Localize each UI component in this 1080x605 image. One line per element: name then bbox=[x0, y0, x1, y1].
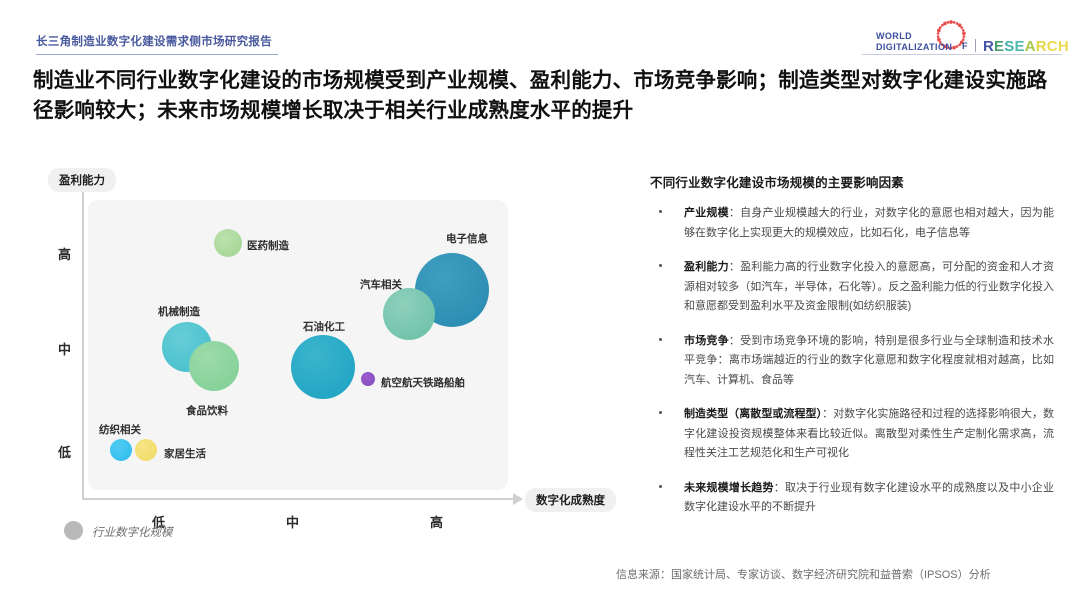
bullet-dot-icon bbox=[659, 485, 662, 488]
slide-root: 长三角制造业数字化建设需求侧市场研究报告 WORLD DIGITALIZATIO… bbox=[0, 0, 1080, 605]
factor-item-3: 市场竞争：受到市场竞争环境的影响，特别是很多行业与全球制造和技术水平竞争：离市场… bbox=[650, 332, 1054, 391]
size-legend-swatch bbox=[64, 521, 83, 540]
logo-research-wordmark: RESEARCH bbox=[983, 38, 1069, 55]
factor-text-3: 市场竞争：受到市场竞争环境的影响，特别是很多行业与全球制造和技术水平竞争：离市场… bbox=[684, 332, 1054, 391]
factor-text-1: 产业规模：自身产业规模越大的行业，对数字化的意愿也相对越大，因为能够在数字化上实… bbox=[684, 204, 1054, 243]
x-axis-arrow bbox=[513, 493, 523, 505]
bubble-label-5: 石油化工 bbox=[303, 319, 345, 334]
y-tick-low: 低 bbox=[58, 442, 71, 461]
y-tick-mid: 中 bbox=[58, 339, 71, 358]
factor-item-5: 未来规模增长趋势：取决于行业现有数字化建设水平的成熟度以及中小企业数字化建设水平… bbox=[650, 479, 1054, 518]
bubble-label-1: 医药制造 bbox=[247, 238, 289, 253]
x-axis-line bbox=[82, 498, 514, 500]
logo-wordmark: WORLD DIGITALIZATION bbox=[876, 31, 952, 52]
factor-item-2: 盈利能力：盈利能力高的行业数字化投入的意愿高，可分配的资金和人才资源相对较多（如… bbox=[650, 258, 1054, 317]
bullet-dot-icon bbox=[659, 210, 662, 213]
factor-text-2: 盈利能力：盈利能力高的行业数字化投入的意愿高，可分配的资金和人才资源相对较多（如… bbox=[684, 258, 1054, 317]
bubble-label-8: 纺织相关 bbox=[99, 422, 141, 437]
bubble-chart: 盈利能力 数字化成熟度 高 中 低 低 中 高 医药制造电子信息汽车相关机械制造… bbox=[36, 170, 636, 570]
bubble-3[interactable] bbox=[383, 288, 435, 340]
x-tick-high: 高 bbox=[430, 512, 443, 531]
factor-item-1: 产业规模：自身产业规模越大的行业，对数字化的意愿也相对越大，因为能够在数字化上实… bbox=[650, 204, 1054, 243]
bullet-dot-icon bbox=[659, 264, 662, 267]
bubble-1[interactable] bbox=[214, 229, 242, 257]
bullet-dot-icon bbox=[659, 411, 662, 414]
bubble-label-9: 家居生活 bbox=[164, 446, 206, 461]
bubble-label-4: 机械制造 bbox=[158, 304, 200, 319]
factors-list: 产业规模：自身产业规模越大的行业，对数字化的意愿也相对越大，因为能够在数字化上实… bbox=[650, 204, 1054, 518]
bubble-7[interactable] bbox=[361, 372, 375, 386]
y-tick-high: 高 bbox=[58, 244, 71, 263]
logo-letter-f: F bbox=[962, 41, 968, 51]
y-axis-line bbox=[82, 188, 84, 500]
y-axis-label: 盈利能力 bbox=[48, 168, 116, 192]
logo-line2: DIGITALIZATION bbox=[876, 42, 952, 53]
factors-panel: 不同行业数字化建设市场规模的主要影响因素 产业规模：自身产业规模越大的行业，对数… bbox=[650, 172, 1054, 533]
page-title: 制造业不同行业数字化建设的市场规模受到产业规模、盈利能力、市场竞争影响；制造类型… bbox=[33, 66, 1048, 126]
bubble-9[interactable] bbox=[135, 439, 157, 461]
bubble-label-6: 食品饮料 bbox=[186, 403, 228, 418]
x-tick-mid: 中 bbox=[286, 512, 299, 531]
factor-text-5: 未来规模增长趋势：取决于行业现有数字化建设水平的成熟度以及中小企业数字化建设水平… bbox=[684, 479, 1054, 518]
size-legend-label: 行业数字化规模 bbox=[92, 524, 173, 540]
report-kicker: 长三角制造业数字化建设需求侧市场研究报告 bbox=[36, 33, 272, 49]
bullet-dot-icon bbox=[659, 338, 662, 341]
brand-logo: WORLD DIGITALIZATION F RESEARCH bbox=[876, 22, 1066, 54]
factors-panel-title: 不同行业数字化建设市场规模的主要影响因素 bbox=[650, 172, 1054, 191]
x-axis-label: 数字化成熟度 bbox=[525, 488, 616, 512]
factor-item-4: 制造类型（离散型或流程型）：对数字化实施路径和过程的选择影响很大，数字化建设投资… bbox=[650, 405, 1054, 464]
bubble-5[interactable] bbox=[291, 335, 355, 399]
bubble-label-7: 航空航天铁路船舶 bbox=[381, 375, 465, 390]
bubble-label-2: 电子信息 bbox=[446, 231, 488, 246]
logo-divider bbox=[975, 39, 976, 52]
logo-line1: WORLD bbox=[876, 31, 952, 42]
header-rule-left bbox=[36, 54, 278, 55]
factor-text-4: 制造类型（离散型或流程型）：对数字化实施路径和过程的选择影响很大，数字化建设投资… bbox=[684, 405, 1054, 464]
bubble-label-3: 汽车相关 bbox=[360, 277, 402, 292]
bubble-8[interactable] bbox=[110, 439, 132, 461]
source-note: 信息来源：国家统计局、专家访谈、数字经济研究院和益普索（IPSOS）分析 bbox=[616, 566, 991, 582]
bubble-6[interactable] bbox=[189, 341, 239, 391]
